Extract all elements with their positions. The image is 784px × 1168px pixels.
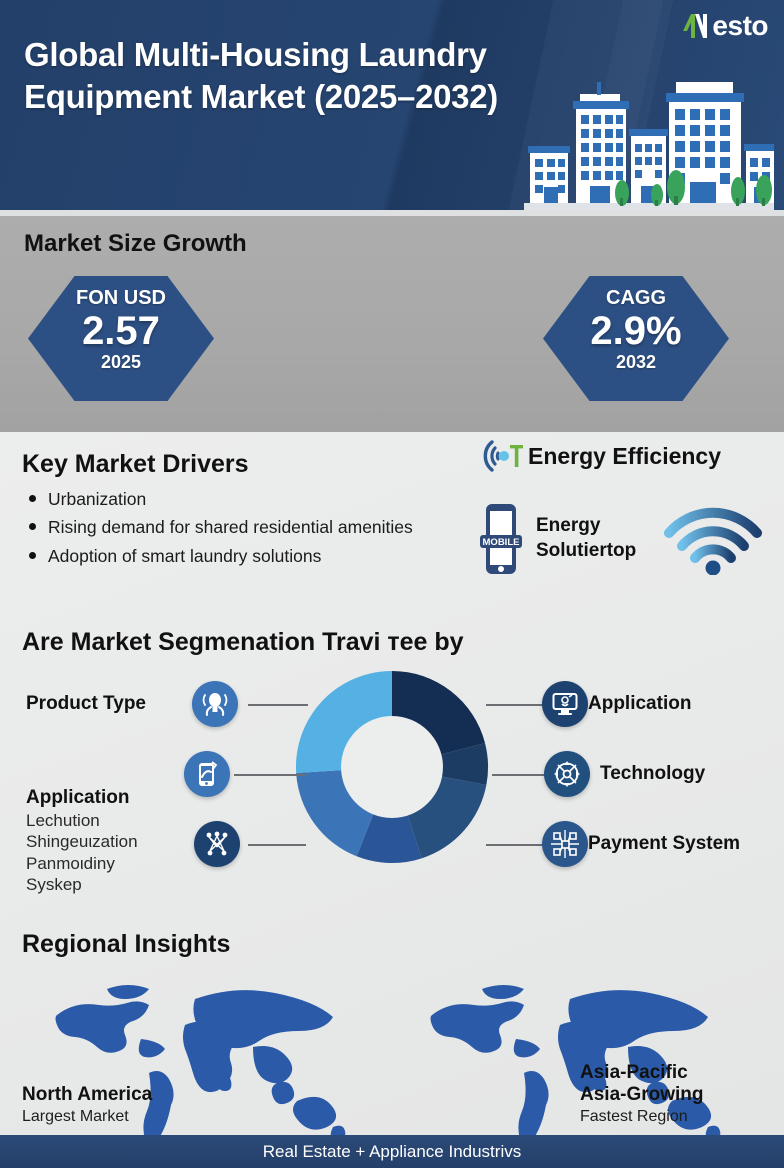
connector-line-payment bbox=[486, 844, 548, 846]
network-nodes-glyph bbox=[203, 830, 231, 858]
segmentation-title: Are Market Segmenation Travi тee by bbox=[22, 628, 464, 657]
end-hexagon-year: 2032 bbox=[543, 353, 729, 371]
connector-line-network bbox=[248, 844, 306, 846]
region-name-north-america: North America bbox=[22, 1084, 152, 1106]
gear-compass-glyph bbox=[553, 760, 581, 788]
connector-line-technology bbox=[492, 774, 548, 776]
region-sub-asia-pacific: Fastest Region bbox=[580, 1108, 688, 1126]
monitor-application-icon[interactable] bbox=[542, 681, 588, 727]
payment-network-icon[interactable] bbox=[542, 821, 588, 867]
list-item: Adoption of smart laundry solutions bbox=[48, 545, 468, 567]
energy-efficiency-row: Energy Efficiency bbox=[478, 436, 721, 476]
mobile-app-icon[interactable] bbox=[184, 751, 230, 797]
energy-efficiency-label: Energy Efficiency bbox=[528, 443, 721, 470]
payment-network-glyph bbox=[551, 830, 579, 858]
footer-text: Real Estate + Appliance Industrivs bbox=[263, 1142, 521, 1162]
regional-insights-title: Regional Insights bbox=[22, 930, 230, 959]
connector-line-application bbox=[486, 704, 548, 706]
segment-sublabels-application: Lechution Shingeuιzation Panmoιdiny Sysk… bbox=[26, 810, 196, 895]
footer-bar: Real Estate + Appliance Industrivs bbox=[0, 1135, 784, 1168]
gear-compass-icon[interactable] bbox=[544, 751, 590, 797]
iot-signal-icon bbox=[478, 436, 524, 476]
infographic-page: Global Multi-Housing Laundry Equipment M… bbox=[0, 0, 784, 1168]
market-size-start-hexagon: FON USD 2.57 2025 bbox=[28, 276, 214, 401]
connector-line-product-type bbox=[248, 704, 308, 706]
connector-line-mobile-app bbox=[234, 774, 306, 776]
segmentation-donut-chart bbox=[294, 669, 490, 865]
segment-label-application: Application bbox=[588, 693, 691, 715]
start-hexagon-year: 2025 bbox=[28, 353, 214, 371]
region-name-asia-pacific: Asia-PacificAsia-Growing bbox=[580, 1062, 704, 1106]
list-item: Rising demand for shared residential ame… bbox=[48, 516, 468, 538]
segment-label-product-type: Product Type bbox=[26, 693, 146, 715]
nesto-check-logo-icon bbox=[681, 11, 715, 41]
end-hexagon-value: 2.9% bbox=[543, 310, 729, 352]
mobile-phone-icon: MOBILE bbox=[478, 502, 524, 576]
network-nodes-icon[interactable] bbox=[194, 821, 240, 867]
market-size-end-hexagon: CAGG 2.9% 2032 bbox=[543, 276, 729, 401]
mobile-app-glyph bbox=[193, 760, 221, 788]
monitor-application-glyph bbox=[551, 690, 579, 718]
segment-label-payment-system: Payment System bbox=[588, 833, 740, 855]
page-title: Global Multi-Housing Laundry Equipment M… bbox=[24, 34, 524, 118]
mobile-icon-text: MOBILE bbox=[483, 537, 520, 548]
brand-logo-text: esto bbox=[712, 12, 768, 40]
wifi-icon bbox=[663, 507, 763, 575]
header-banner: Global Multi-Housing Laundry Equipment M… bbox=[0, 0, 784, 210]
list-item: Urbanization bbox=[48, 488, 468, 510]
energy-solutions-label: EnergySolutiertop bbox=[536, 514, 666, 563]
cityscape-illustration bbox=[524, 60, 774, 210]
segment-label-application-left: Application bbox=[26, 787, 129, 809]
energy-solutions-row: MOBILE EnergySolutiertop bbox=[478, 502, 666, 576]
start-hexagon-caption: FON USD bbox=[28, 288, 214, 308]
segment-label-technology: Technology bbox=[600, 763, 705, 785]
start-hexagon-value: 2.57 bbox=[28, 310, 214, 352]
key-market-drivers-list: Urbanization Rising demand for shared re… bbox=[22, 488, 468, 573]
region-sub-north-america: Largest Market bbox=[22, 1108, 129, 1126]
market-size-growth-section: Market Size Growth FON USD 2.57 2025 bbox=[0, 216, 784, 432]
brand-logo[interactable]: esto bbox=[681, 8, 768, 44]
lightbulb-idea-icon[interactable] bbox=[192, 681, 238, 727]
lightbulb-idea-glyph bbox=[201, 690, 229, 718]
key-market-drivers-title: Key Market Drivers bbox=[22, 450, 249, 479]
market-size-growth-title: Market Size Growth bbox=[24, 230, 247, 258]
end-hexagon-caption: CAGG bbox=[543, 288, 729, 308]
content-body: Key Market Drivers Urbanization Rising d… bbox=[0, 432, 784, 1135]
